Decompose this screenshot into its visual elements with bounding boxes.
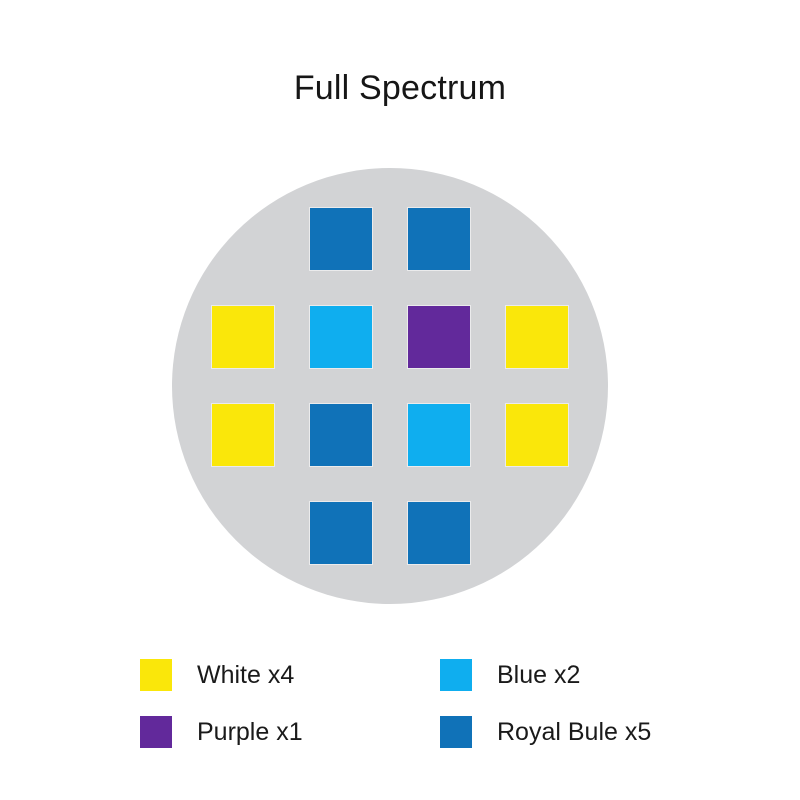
led-grid: [172, 168, 608, 604]
led-square-royal-blue: [310, 502, 372, 564]
legend-item-purple: Purple x1: [140, 716, 440, 748]
led-square-white: [212, 404, 274, 466]
legend-swatch-royal-blue: [440, 716, 472, 748]
led-square-royal-blue: [310, 404, 372, 466]
legend-label: Blue x2: [497, 660, 580, 690]
legend: White x4Blue x2Purple x1Royal Bule x5: [140, 646, 680, 760]
legend-label: Purple x1: [197, 717, 303, 747]
full-spectrum-diagram: Full Spectrum White x4Blue x2Purple x1Ro…: [0, 0, 800, 800]
legend-item-blue: Blue x2: [440, 659, 680, 691]
led-square-blue: [408, 404, 470, 466]
legend-item-white: White x4: [140, 659, 440, 691]
led-square-royal-blue: [408, 208, 470, 270]
legend-swatch-purple: [140, 716, 172, 748]
legend-label: White x4: [197, 660, 294, 690]
led-square-blue: [310, 306, 372, 368]
led-square-purple: [408, 306, 470, 368]
led-square-white: [212, 306, 274, 368]
legend-label: Royal Bule x5: [497, 717, 651, 747]
legend-swatch-white: [140, 659, 172, 691]
page-title: Full Spectrum: [0, 66, 800, 110]
led-square-white: [506, 306, 568, 368]
led-square-royal-blue: [310, 208, 372, 270]
led-board-circle: [172, 168, 608, 604]
legend-swatch-blue: [440, 659, 472, 691]
led-square-royal-blue: [408, 502, 470, 564]
led-square-white: [506, 404, 568, 466]
legend-item-royal-blue: Royal Bule x5: [440, 716, 680, 748]
